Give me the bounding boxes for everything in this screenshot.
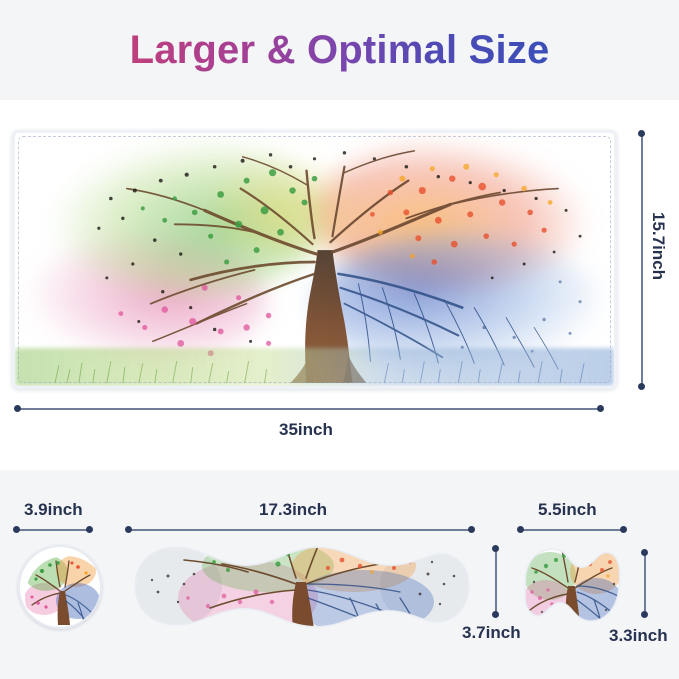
mouse-rest-width-label: 5.5inch (538, 500, 597, 520)
keyboard-rest-height-line (495, 548, 497, 614)
page-title: Larger & Optimal Size (130, 28, 550, 73)
coaster-measure-dot-left (13, 526, 20, 533)
width-measure-label: 35inch (279, 420, 333, 440)
mouse-rest-measure-dot-right (620, 526, 627, 533)
keyboard-rest-width-label: 17.3inch (259, 500, 327, 520)
coaster-measure-dot-right (86, 526, 93, 533)
keyboard-rest-height-dot-bottom (492, 611, 499, 618)
coaster-measure-line (16, 529, 90, 531)
width-measure-line (17, 408, 600, 410)
width-measure-dot-left (14, 405, 21, 412)
keyboard-wrist-rest-product (128, 540, 472, 632)
desk-mat-product (12, 130, 617, 389)
mouse-rest-artwork (520, 542, 624, 630)
product-infographic: Larger & Optimal Size (0, 0, 679, 679)
mouse-wrist-rest-product (520, 542, 624, 630)
tree-artwork (15, 133, 614, 386)
height-measure-dot-top (638, 130, 645, 137)
coaster-width-label: 3.9inch (24, 500, 83, 520)
grass-strip (15, 348, 614, 386)
header-band: Larger & Optimal Size (0, 0, 679, 100)
coaster-artwork (18, 545, 102, 629)
keyboard-rest-artwork (128, 540, 472, 632)
height-measure-label: 15.7inch (648, 212, 668, 280)
mouse-rest-height-line (644, 552, 646, 614)
round-coaster-product (18, 545, 102, 629)
main-panel: 15.7inch 35inch (0, 100, 679, 470)
keyboard-rest-measure-dot-left (125, 526, 132, 533)
keyboard-rest-measure-dot-right (468, 526, 475, 533)
height-measure-line (641, 133, 643, 386)
keyboard-rest-height-dot-top (492, 545, 499, 552)
mouse-rest-height-dot-top (641, 549, 648, 556)
keyboard-rest-measure-line (128, 529, 472, 531)
mouse-rest-height-dot-bottom (641, 611, 648, 618)
mouse-rest-measure-dot-left (517, 526, 524, 533)
width-measure-dot-right (597, 405, 604, 412)
height-measure-dot-bottom (638, 383, 645, 390)
mouse-rest-measure-line (520, 529, 624, 531)
